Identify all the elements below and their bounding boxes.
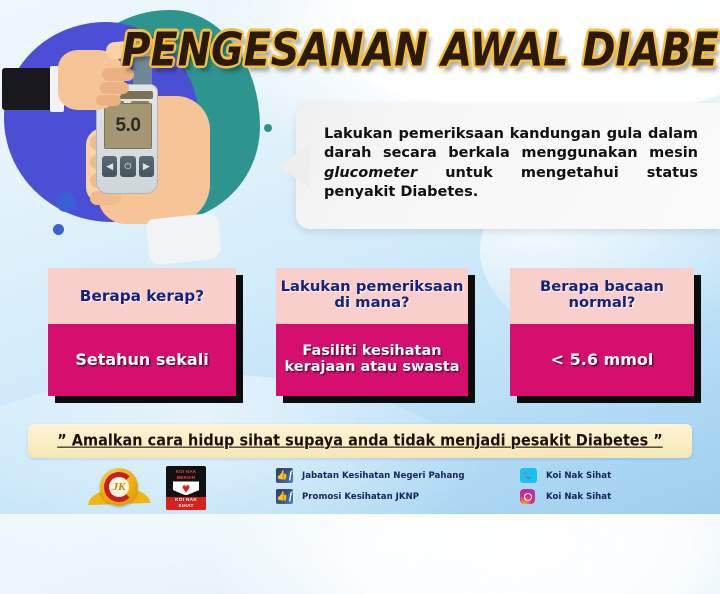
description-text: Lakukan pemeriksaan kandungan gula dalam…	[324, 125, 698, 202]
social-row[interactable]: 👍f Jabatan Kesihatan Negeri Pahang	[276, 466, 465, 485]
badge-top-text: KOI NAK BERSIH	[166, 469, 206, 480]
logo-monogram: JK	[109, 477, 129, 497]
left-arrow-icon[interactable]: ◀	[102, 156, 117, 177]
facebook-icon: 👍f	[276, 468, 293, 483]
right-arrow-icon[interactable]: ▶	[139, 156, 154, 177]
poster-title: PENGESANAN AWAL DIABETES	[212, 22, 710, 78]
card-answer-text: Fasiliti kesihatan kerajaan atau swasta	[282, 344, 462, 376]
power-icon[interactable]: ⏻	[120, 156, 135, 177]
facebook-icon: 👍f	[276, 489, 293, 504]
social-handle: Promosi Kesihatan JKNP	[302, 492, 419, 502]
tagline-banner: ” Amalkan cara hidup sihat supaya anda t…	[28, 424, 692, 458]
social-column-twitter-instagram: 🐦 Koi Nak Sihat Koi Nak Sihat	[520, 466, 611, 508]
jkn-crest-logo: JK	[88, 466, 150, 512]
card-question-text: Berapa bacaan normal?	[514, 280, 689, 311]
footer: JK KOI NAK BERSIH ♥ KOI NAK SIHAT 👍f Jab…	[0, 464, 720, 514]
decorative-dot	[53, 224, 64, 235]
description-line-4: penyakit Diabetes.	[324, 184, 478, 200]
card-answer: < 5.6 mmol	[510, 324, 694, 396]
card-answer-text: Setahun sekali	[75, 351, 208, 369]
tagline-text: ” Amalkan cara hidup sihat supaya anda t…	[57, 432, 663, 450]
card-answer: Fasiliti kesihatan kerajaan atau swasta	[276, 324, 468, 396]
social-row[interactable]: Koi Nak Sihat	[520, 487, 611, 506]
sleeve	[2, 68, 54, 110]
card-question-text: Lakukan pemeriksaan di mana?	[280, 280, 464, 311]
description-line-3-post: untuk mengetahui status	[417, 165, 698, 181]
card-question: Berapa kerap?	[48, 268, 236, 324]
finger	[100, 82, 129, 94]
heart-icon: ♥	[182, 481, 190, 495]
info-cards: Berapa kerap? Setahun sekali Lakukan pem…	[0, 268, 720, 410]
finger	[96, 95, 121, 106]
description-callout: Lakukan pemeriksaan kandungan gula dalam…	[296, 103, 720, 229]
social-handle: Koi Nak Sihat	[546, 492, 611, 502]
card-question-text: Berapa kerap?	[80, 288, 204, 304]
badge-bottom-text: KOI NAK SIHAT	[166, 497, 206, 510]
glucometer-reading: 5.0	[116, 115, 141, 137]
info-card-frequency: Berapa kerap? Setahun sekali	[48, 268, 236, 396]
description-line-1: Lakukan pemeriksaan kandungan gula	[324, 126, 642, 142]
social-handle: Jabatan Kesihatan Negeri Pahang	[302, 471, 465, 481]
koi-nak-sihat-badge: KOI NAK BERSIH ♥ KOI NAK SIHAT	[166, 466, 206, 510]
shirt-cuff	[146, 212, 222, 265]
twitter-icon: 🐦	[520, 468, 537, 483]
glucometer-emphasis: glucometer	[324, 165, 417, 181]
poster-title-text: PENGESANAN AWAL DIABETES	[121, 23, 720, 76]
card-answer-text: < 5.6 mmol	[551, 351, 654, 369]
social-row[interactable]: 👍f Promosi Kesihatan JKNP	[276, 487, 465, 506]
glucometer-buttons: ◀ ⏻ ▶	[102, 155, 154, 177]
info-card-normal-reading: Berapa bacaan normal? < 5.6 mmol	[510, 268, 694, 396]
card-answer: Setahun sekali	[48, 324, 236, 396]
social-column-facebook: 👍f Jabatan Kesihatan Negeri Pahang 👍f Pr…	[276, 466, 465, 508]
card-question: Berapa bacaan normal?	[510, 268, 694, 324]
card-question: Lakukan pemeriksaan di mana?	[276, 268, 468, 324]
social-handle: Koi Nak Sihat	[546, 471, 611, 481]
badge-shield: ♥	[173, 481, 199, 495]
instagram-icon	[520, 489, 535, 504]
info-card-location: Lakukan pemeriksaan di mana? Fasiliti ke…	[276, 268, 468, 396]
social-row[interactable]: 🐦 Koi Nak Sihat	[520, 466, 611, 485]
description-line-3-pre: mesin	[649, 145, 698, 161]
